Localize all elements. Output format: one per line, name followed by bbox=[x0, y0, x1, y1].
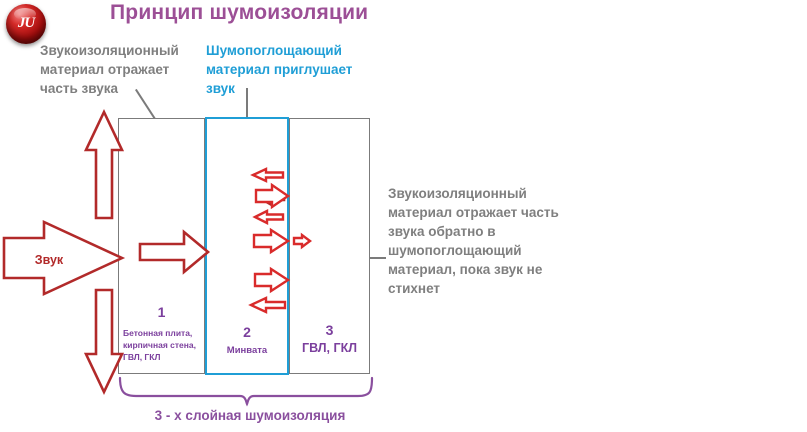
ju-logo: JU bbox=[6, 4, 46, 44]
bottom-caption: 3 - х слойная шумоизоляция bbox=[105, 408, 395, 423]
layer-1-number: 1 bbox=[119, 304, 204, 320]
sound-label: Звук bbox=[18, 253, 80, 267]
reflected-arrow-up bbox=[86, 112, 122, 218]
page-title: Принцип шумоизоляции bbox=[110, 1, 440, 25]
callout-left-text: Звукоизоляционный материал отражает част… bbox=[40, 41, 208, 98]
layer-2-box: 2 Минвата bbox=[205, 117, 289, 375]
layer-3-number: 3 bbox=[290, 322, 369, 338]
layer-2-number: 2 bbox=[207, 324, 287, 340]
logo-glyph: JU bbox=[18, 15, 34, 32]
bottom-brace bbox=[120, 378, 372, 404]
callout-right-text: Звукоизоляционный материал отражает част… bbox=[388, 184, 588, 298]
diagram-canvas: JU Принцип шумоизоляции Звукоизоляционны… bbox=[0, 0, 807, 432]
callout-middle-text: Шумопоглощающий материал приглушает звук bbox=[206, 41, 356, 98]
layer-1-name: Бетонная плита, кирпичная стена, ГВЛ, ГК… bbox=[119, 327, 204, 363]
layer-2-name: Минвата bbox=[207, 345, 287, 356]
layer-3-name: ГВЛ, ГКЛ bbox=[290, 341, 369, 355]
reflected-arrow-down bbox=[86, 290, 122, 392]
layer-3-box: 3 ГВЛ, ГКЛ bbox=[289, 118, 370, 374]
layer-1-box: 1 Бетонная плита, кирпичная стена, ГВЛ, … bbox=[118, 118, 205, 374]
